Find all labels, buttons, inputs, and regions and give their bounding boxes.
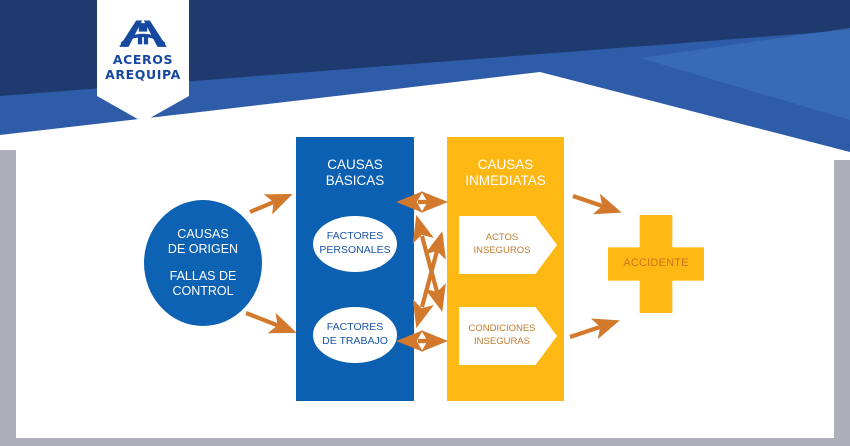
slide-canvas: ACEROS AREQUIPA CAUSAS DE ORIGEN FALLAS … — [0, 0, 850, 446]
arrow-immediate-to-accident-top — [573, 196, 617, 211]
actos-inseguros-line2: INSEGUROS — [473, 245, 530, 258]
connector-arrow-layer — [0, 0, 850, 446]
arrow-origin-to-basic-top — [250, 196, 288, 212]
accidente-outcome-cross[interactable]: ACCIDENTE — [608, 215, 704, 313]
arrow-basic-immediate-cross-a — [422, 236, 441, 307]
origin-label-line3: FALLAS DE — [170, 269, 237, 284]
origin-label-line1: CAUSAS — [177, 227, 228, 242]
basic-causes-title-line2: BÁSICAS — [326, 173, 385, 189]
factores-personales-line1: FACTORES — [327, 230, 383, 244]
factores-de-trabajo-node[interactable]: FACTORES DE TRABAJO — [313, 307, 397, 363]
origin-causes-ellipse[interactable]: CAUSAS DE ORIGEN FALLAS DE CONTROL — [144, 200, 262, 326]
immediate-causes-title-line1: CAUSAS — [478, 157, 534, 173]
factores-trabajo-line1: FACTORES — [327, 321, 383, 335]
immediate-causes-title-line2: INMEDIATAS — [465, 173, 546, 189]
factores-personales-line2: PERSONALES — [319, 244, 390, 258]
origin-label-line4: CONTROL — [172, 284, 233, 299]
arrow-basic-immediate-cross-b — [422, 236, 441, 307]
basic-causes-title-line1: CAUSAS — [327, 157, 383, 173]
arrow-immediate-to-accident-bottom — [570, 322, 615, 337]
origin-label-line2: DE ORIGEN — [168, 242, 238, 257]
condiciones-inseguras-line2: INSEGURAS — [474, 336, 530, 349]
accidente-label: ACCIDENTE — [623, 257, 688, 270]
actos-inseguros-line1: ACTOS — [486, 232, 519, 245]
arrow-origin-to-basic-bottom — [246, 313, 292, 331]
factores-trabajo-line2: DE TRABAJO — [322, 335, 388, 349]
factores-personales-node[interactable]: FACTORES PERSONALES — [313, 216, 397, 272]
causal-flow-diagram: CAUSAS DE ORIGEN FALLAS DE CONTROL CAUSA… — [0, 0, 850, 446]
condiciones-inseguras-line1: CONDICIONES — [468, 323, 535, 336]
